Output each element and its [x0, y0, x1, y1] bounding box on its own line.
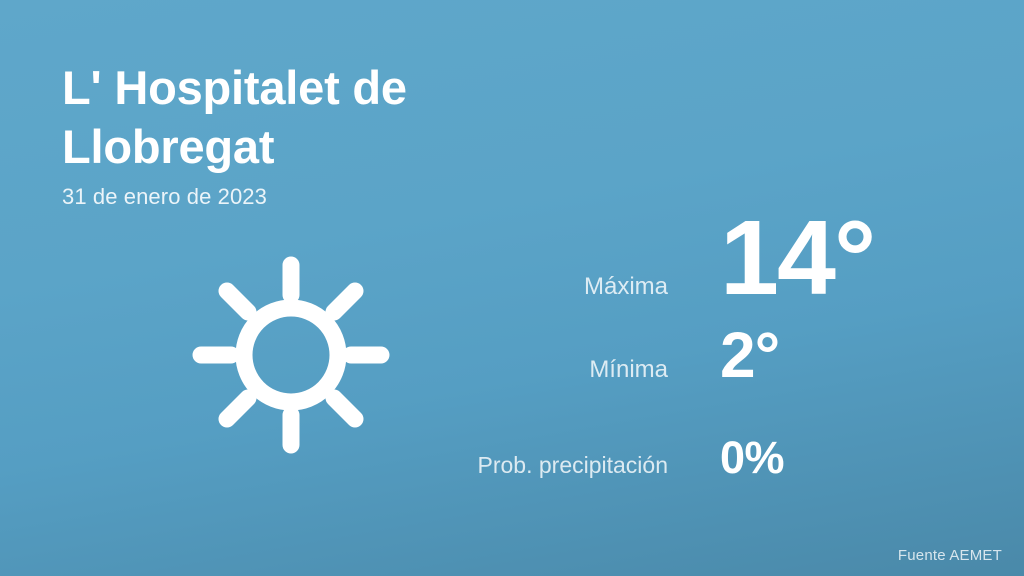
source-attribution: Fuente AEMET [898, 547, 1002, 564]
reading-row-minima: Mínima 2° [420, 323, 980, 435]
card-header: L' Hospitalet de Llobregat 31 de enero d… [62, 58, 682, 210]
page-title: L' Hospitalet de Llobregat [62, 58, 682, 176]
reading-label-minima: Mínima [420, 356, 668, 384]
reading-label-precipitacion: Prob. precipitación [420, 452, 668, 479]
reading-value-maxima: 14° [668, 205, 874, 311]
weather-card: L' Hospitalet de Llobregat 31 de enero d… [0, 0, 1024, 576]
reading-row-maxima: Máxima 14° [420, 205, 980, 323]
reading-value-minima: 2° [668, 323, 779, 387]
sun-icon [192, 253, 390, 458]
readings-list: Máxima 14° Mínima 2° Prob. precipitación… [420, 205, 980, 505]
reading-label-maxima: Máxima [420, 273, 668, 301]
reading-row-precipitacion: Prob. precipitación 0% [420, 435, 980, 505]
reading-value-precipitacion: 0% [668, 435, 784, 480]
